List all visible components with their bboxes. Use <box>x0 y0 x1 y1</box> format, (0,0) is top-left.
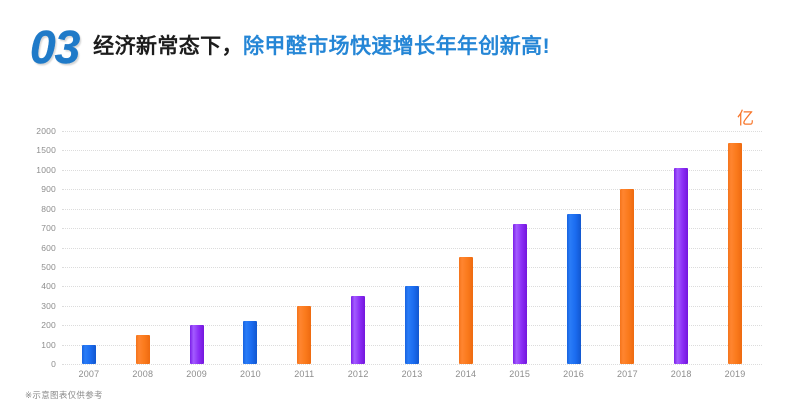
chart-bar <box>459 257 473 364</box>
x-axis-tick-label: 2017 <box>600 370 654 379</box>
chart-gridline <box>62 248 762 249</box>
chart-gridline <box>62 150 762 151</box>
y-axis-tick-label: 200 <box>10 321 56 330</box>
chart-bar <box>674 168 688 364</box>
y-axis-tick-label: 1500 <box>10 146 56 155</box>
y-axis-tick-label: 1000 <box>10 166 56 175</box>
chart-gridline <box>62 364 762 365</box>
x-axis-tick-label: 2008 <box>116 370 170 379</box>
section-header: 03 经济新常态下，除甲醛市场快速增长年年创新高! <box>0 0 800 92</box>
chart-gridline <box>62 267 762 268</box>
y-axis-tick-label: 100 <box>10 341 56 350</box>
chart-bar <box>243 321 257 364</box>
x-axis-tick-label: 2013 <box>385 370 439 379</box>
x-axis-tick-label: 2011 <box>277 370 331 379</box>
chart-unit-label: 亿 <box>737 110 754 127</box>
chart-bar <box>728 143 742 364</box>
y-axis-tick-label: 0 <box>10 360 56 369</box>
y-axis-tick-label: 900 <box>10 185 56 194</box>
chart-gridline <box>62 131 762 132</box>
y-axis-tick-label: 300 <box>10 302 56 311</box>
bar-chart: 亿 ※示意图表仅供参考 2000150010009008007006005004… <box>0 92 800 419</box>
chart-gridline <box>62 228 762 229</box>
chart-bar <box>567 214 581 364</box>
y-axis-tick-label: 400 <box>10 282 56 291</box>
x-axis-tick-label: 2012 <box>331 370 385 379</box>
y-axis-tick-label: 800 <box>10 205 56 214</box>
page-title-part-blue: 除甲醛市场快速增长年年创新高! <box>243 35 550 58</box>
chart-bar <box>620 189 634 364</box>
x-axis-tick-label: 2007 <box>62 370 116 379</box>
chart-footnote: ※示意图表仅供参考 <box>25 391 103 400</box>
x-axis-tick-label: 2015 <box>493 370 547 379</box>
step-number-badge: 03 <box>30 24 79 70</box>
y-axis-tick-label: 2000 <box>10 127 56 136</box>
x-axis-tick-label: 2010 <box>223 370 277 379</box>
chart-bar <box>82 345 96 364</box>
x-axis-tick-label: 2016 <box>547 370 601 379</box>
chart-bar <box>513 224 527 364</box>
chart-bar <box>190 325 204 364</box>
page-title: 经济新常态下，除甲醛市场快速增长年年创新高! <box>93 36 550 57</box>
chart-gridline <box>62 170 762 171</box>
y-axis-tick-label: 500 <box>10 263 56 272</box>
y-axis-tick-label: 700 <box>10 224 56 233</box>
x-axis-tick-label: 2009 <box>170 370 224 379</box>
chart-gridline <box>62 189 762 190</box>
chart-bar <box>405 286 419 364</box>
chart-gridline <box>62 209 762 210</box>
y-axis-tick-label: 600 <box>10 244 56 253</box>
x-axis-tick-label: 2019 <box>708 370 762 379</box>
x-axis-tick-label: 2014 <box>439 370 493 379</box>
chart-bar <box>136 335 150 364</box>
x-axis-tick-label: 2018 <box>654 370 708 379</box>
chart-plot-area <box>62 131 762 364</box>
chart-bar <box>297 306 311 364</box>
page-title-part-dark: 经济新常态下， <box>93 35 243 58</box>
chart-bar <box>351 296 365 364</box>
